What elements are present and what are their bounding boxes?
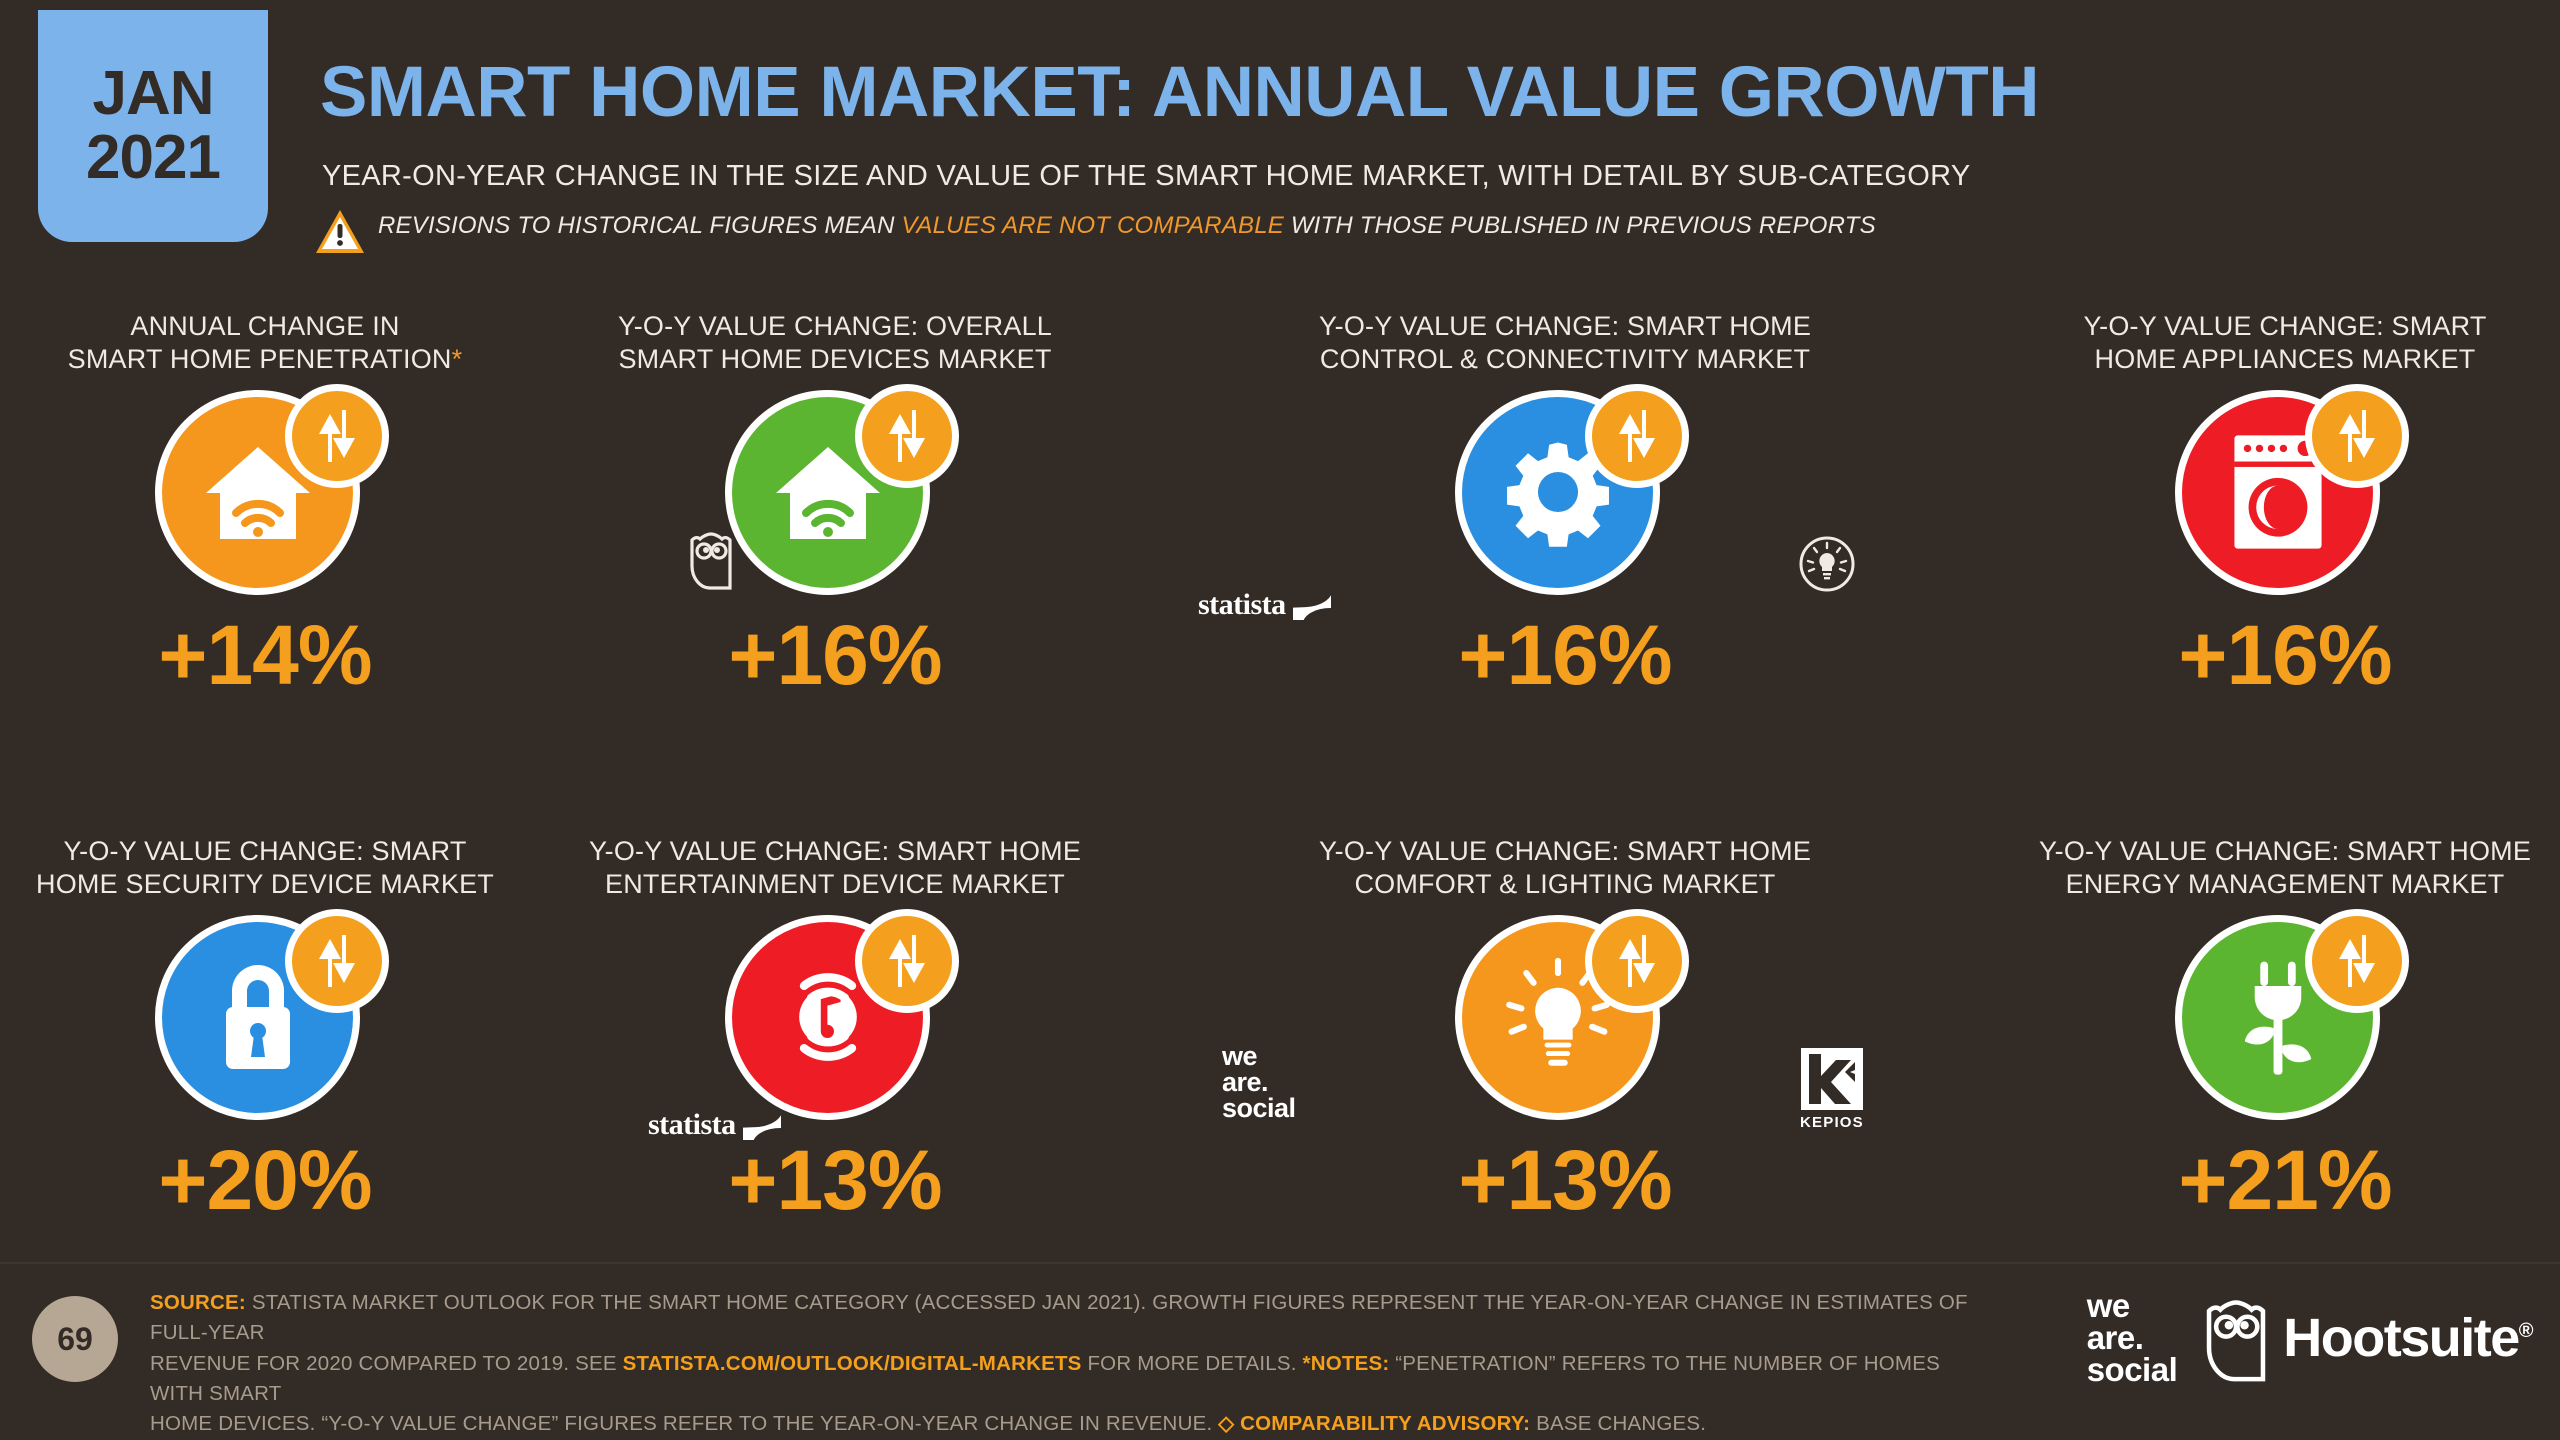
we-are-social-line2: are. xyxy=(2087,1322,2178,1354)
source-text-3: HOME DEVICES. “Y-O-Y VALUE CHANGE” FIGUR… xyxy=(150,1412,1218,1435)
registered-trademark-icon: ® xyxy=(2519,1320,2532,1342)
hootsuite-logo: Hootsuite® xyxy=(2203,1294,2532,1382)
panel-value: +16% xyxy=(1275,613,1855,697)
source-notes: SOURCE: STATISTA MARKET OUTLOOK FOR THE … xyxy=(150,1288,1990,1440)
panel-icon-group xyxy=(715,390,955,605)
panel-caption-line1: Y-O-Y VALUE CHANGE: OVERALL xyxy=(545,310,1125,343)
panel-value: +13% xyxy=(1275,1138,1855,1222)
statista-mark xyxy=(1293,590,1331,620)
panel-caption: ANNUAL CHANGE IN SMART HOME PENETRATION* xyxy=(0,310,555,376)
footer-logos: we are. social Hootsuite® xyxy=(2087,1290,2532,1386)
source-text-2b: FOR MORE DETAILS. xyxy=(1082,1352,1303,1375)
advisory-diamond-icon: ◇ xyxy=(1218,1412,1240,1435)
warning-triangle-icon xyxy=(314,208,366,256)
panel-caption-line1: Y-O-Y VALUE CHANGE: SMART HOME xyxy=(1275,835,1855,868)
hootsuite-owl-icon xyxy=(2203,1294,2269,1382)
arrows-up-down-icon xyxy=(1613,408,1661,464)
panel-caption: Y-O-Y VALUE CHANGE: SMART HOME ENERGY MA… xyxy=(1995,835,2560,901)
lightbulb-circle-icon xyxy=(1798,535,1856,598)
infographic-slide: JAN 2021 SMART HOME MARKET: ANNUAL VALUE… xyxy=(0,0,2560,1440)
arrows-up-down-icon xyxy=(313,408,361,464)
kepios-wordmark: KEPIOS xyxy=(1800,1114,1864,1131)
panel-caption: Y-O-Y VALUE CHANGE: OVERALL SMART HOME D… xyxy=(545,310,1125,376)
advisory-text-highlight: VALUES ARE NOT COMPARABLE xyxy=(902,212,1284,239)
panel-icon-group xyxy=(145,915,385,1130)
panel-value: +16% xyxy=(545,613,1125,697)
we-are-social-line3: social xyxy=(1222,1095,1296,1121)
panel-value: +21% xyxy=(1995,1138,2560,1222)
up-down-arrows-badge xyxy=(2305,384,2409,488)
date-badge: JAN 2021 xyxy=(38,10,268,242)
advisory-text-post: WITH THOSE PUBLISHED IN PREVIOUS REPORTS xyxy=(1284,212,1876,239)
panel-smart-home-appliances: Y-O-Y VALUE CHANGE: SMART HOME APPLIANCE… xyxy=(1995,310,2560,697)
panel-caption-line2: HOME SECURITY DEVICE MARKET xyxy=(0,868,555,901)
source-label: SOURCE: xyxy=(150,1291,246,1314)
up-down-arrows-badge xyxy=(855,909,959,1013)
we-are-social-line2: are. xyxy=(1222,1069,1296,1095)
panel-caption: Y-O-Y VALUE CHANGE: SMART HOME SECURITY … xyxy=(0,835,555,901)
hootsuite-owl-icon xyxy=(688,528,734,595)
panel-energy-management: Y-O-Y VALUE CHANGE: SMART HOME ENERGY MA… xyxy=(1995,835,2560,1222)
panel-caption-line1: Y-O-Y VALUE CHANGE: SMART xyxy=(1995,310,2560,343)
panel-value: +14% xyxy=(0,613,555,697)
panel-caption-line2: COMFORT & LIGHTING MARKET xyxy=(1275,868,1855,901)
panel-caption-line2: ENTERTAINMENT DEVICE MARKET xyxy=(545,868,1125,901)
arrows-up-down-icon xyxy=(2333,408,2381,464)
panel-value: +13% xyxy=(545,1138,1125,1222)
we-are-social-logo: we are. social xyxy=(1222,1043,1296,1122)
statista-wordmark: statista xyxy=(648,1108,736,1142)
kepios-logo: KEPIOS xyxy=(1800,1048,1864,1131)
hootsuite-wordmark: Hootsuite® xyxy=(2283,1307,2532,1369)
arrows-up-down-icon xyxy=(313,933,361,989)
footnote-asterisk: * xyxy=(452,344,463,374)
page-title: SMART HOME MARKET: ANNUAL VALUE GROWTH xyxy=(320,52,2039,133)
page-number-badge: 69 xyxy=(32,1296,118,1382)
panel-caption: Y-O-Y VALUE CHANGE: SMART HOME ENTERTAIN… xyxy=(545,835,1125,901)
panel-value: +16% xyxy=(1995,613,2560,697)
panel-value: +20% xyxy=(0,1138,555,1222)
panel-icon-group xyxy=(2165,915,2405,1130)
panel-icon-group xyxy=(145,390,385,605)
panel-caption-line1: Y-O-Y VALUE CHANGE: SMART HOME xyxy=(545,835,1125,868)
panel-icon-group xyxy=(715,915,955,1130)
statista-logo: statista xyxy=(648,1108,781,1142)
up-down-arrows-badge xyxy=(1585,909,1689,1013)
panel-caption-line2: SMART HOME PENETRATION* xyxy=(0,343,555,376)
panel-caption-line1: Y-O-Y VALUE CHANGE: SMART HOME xyxy=(1995,835,2560,868)
we-are-social-line1: we xyxy=(1222,1043,1296,1069)
up-down-arrows-badge xyxy=(285,384,389,488)
panel-caption-line1: Y-O-Y VALUE CHANGE: SMART HOME xyxy=(1275,310,1855,343)
advisory-text-pre: REVISIONS TO HISTORICAL FIGURES MEAN xyxy=(378,212,902,239)
arrows-up-down-icon xyxy=(2333,933,2381,989)
panel-overall-smart-home-devices: Y-O-Y VALUE CHANGE: OVERALL SMART HOME D… xyxy=(545,310,1125,697)
date-badge-year: 2021 xyxy=(86,126,220,190)
panel-caption: Y-O-Y VALUE CHANGE: SMART HOME APPLIANCE… xyxy=(1995,310,2560,376)
panel-icon-group xyxy=(2165,390,2405,605)
date-badge-month: JAN xyxy=(92,62,213,126)
source-link[interactable]: STATISTA.COM/OUTLOOK/DIGITAL-MARKETS xyxy=(623,1352,1082,1375)
source-text-2a: REVENUE FOR 2020 COMPARED TO 2019. SEE xyxy=(150,1352,623,1375)
panel-caption-line2: ENERGY MANAGEMENT MARKET xyxy=(1995,868,2560,901)
panel-caption: Y-O-Y VALUE CHANGE: SMART HOME COMFORT &… xyxy=(1275,835,1855,901)
panel-control-connectivity: Y-O-Y VALUE CHANGE: SMART HOME CONTROL &… xyxy=(1275,310,1855,697)
footer-divider xyxy=(0,1262,2560,1264)
statista-mark xyxy=(743,1110,781,1140)
panel-entertainment-device: Y-O-Y VALUE CHANGE: SMART HOME ENTERTAIN… xyxy=(545,835,1125,1222)
panel-comfort-lighting: Y-O-Y VALUE CHANGE: SMART HOME COMFORT &… xyxy=(1275,835,1855,1222)
panel-caption-line2: CONTROL & CONNECTIVITY MARKET xyxy=(1275,343,1855,376)
comparability-advisory-text: BASE CHANGES. xyxy=(1530,1412,1706,1435)
panel-caption-line1: Y-O-Y VALUE CHANGE: SMART xyxy=(0,835,555,868)
arrows-up-down-icon xyxy=(883,408,931,464)
statista-logo: statista xyxy=(1198,588,1331,622)
panel-caption: Y-O-Y VALUE CHANGE: SMART HOME CONTROL &… xyxy=(1275,310,1855,376)
we-are-social-logo-footer: we are. social xyxy=(2087,1290,2178,1386)
panel-icon-group xyxy=(1445,915,1685,1130)
source-text-1: STATISTA MARKET OUTLOOK FOR THE SMART HO… xyxy=(150,1291,1968,1344)
comparability-advisory-label: COMPARABILITY ADVISORY: xyxy=(1240,1412,1530,1435)
panel-caption-line1: ANNUAL CHANGE IN xyxy=(0,310,555,343)
kepios-mark xyxy=(1801,1048,1863,1110)
arrows-up-down-icon xyxy=(1613,933,1661,989)
arrows-up-down-icon xyxy=(883,933,931,989)
page-subtitle: YEAR-ON-YEAR CHANGE IN THE SIZE AND VALU… xyxy=(322,160,1970,193)
panel-smart-home-penetration: ANNUAL CHANGE IN SMART HOME PENETRATION* xyxy=(0,310,555,697)
panel-security-device: Y-O-Y VALUE CHANGE: SMART HOME SECURITY … xyxy=(0,835,555,1222)
notes-label: *NOTES: xyxy=(1303,1352,1390,1375)
up-down-arrows-badge xyxy=(1585,384,1689,488)
comparability-advisory-note: REVISIONS TO HISTORICAL FIGURES MEAN VAL… xyxy=(378,212,1876,240)
up-down-arrows-badge xyxy=(2305,909,2409,1013)
up-down-arrows-badge xyxy=(285,909,389,1013)
up-down-arrows-badge xyxy=(855,384,959,488)
panel-caption-line2: SMART HOME DEVICES MARKET xyxy=(545,343,1125,376)
panel-caption-line2: HOME APPLIANCES MARKET xyxy=(1995,343,2560,376)
statista-wordmark: statista xyxy=(1198,588,1286,622)
we-are-social-line3: social xyxy=(2087,1354,2178,1386)
panel-icon-group xyxy=(1445,390,1685,605)
we-are-social-line1: we xyxy=(2087,1290,2178,1322)
